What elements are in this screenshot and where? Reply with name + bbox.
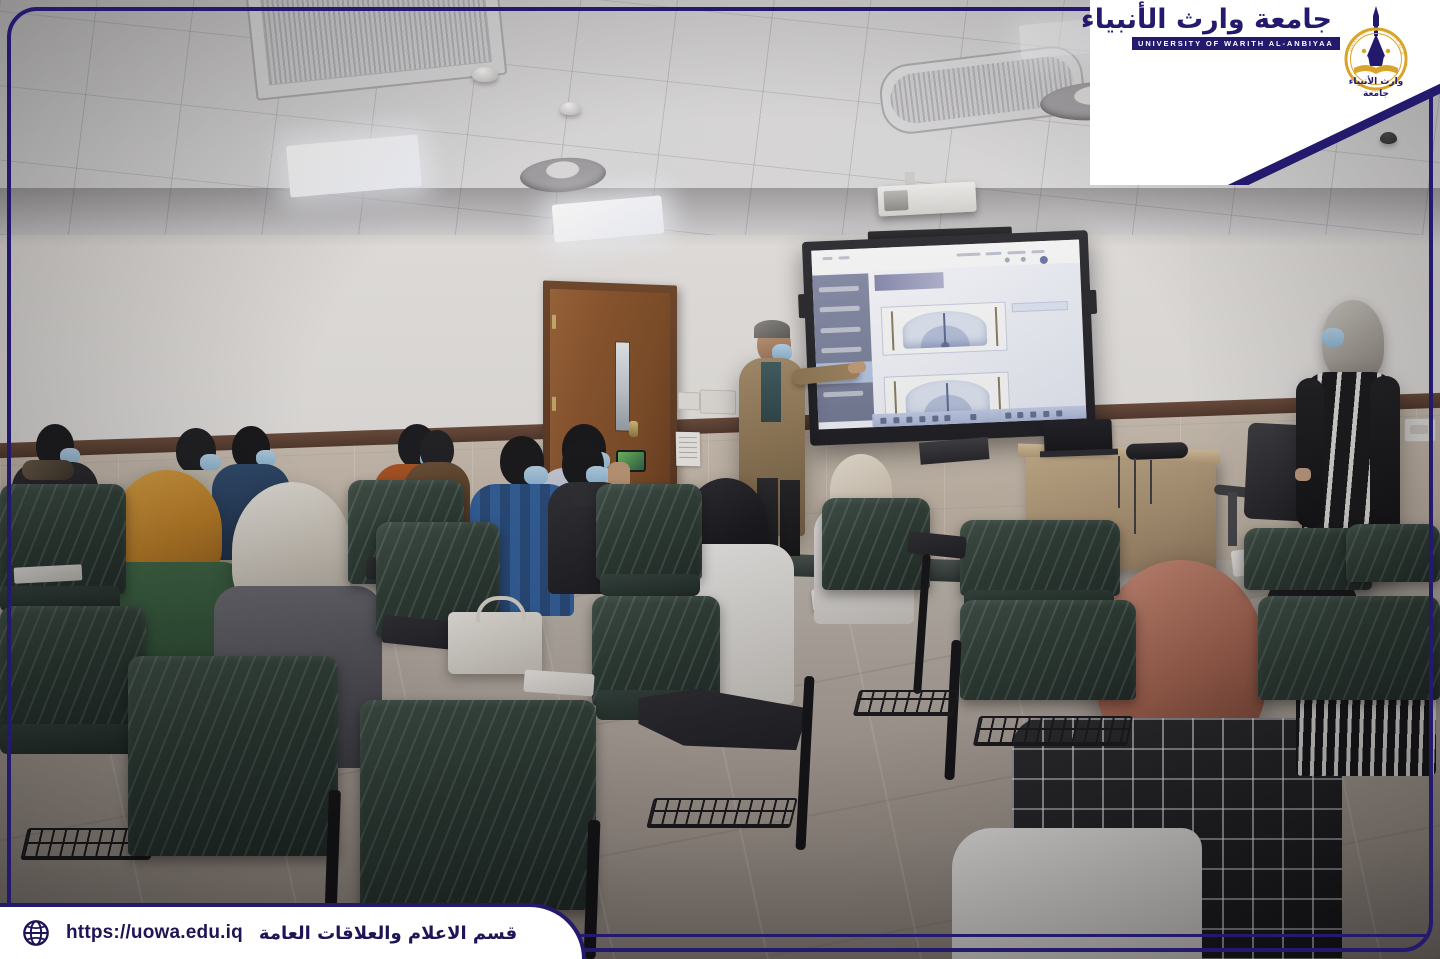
display-side-button bbox=[1087, 290, 1097, 314]
door-hinge-icon bbox=[552, 397, 556, 411]
lecture-hall-photo bbox=[0, 0, 1440, 959]
smoke-detector-icon bbox=[472, 67, 498, 82]
cable bbox=[1150, 460, 1196, 504]
security-camera-icon bbox=[1380, 132, 1397, 144]
wall-switch-plate bbox=[678, 392, 700, 411]
white-garment bbox=[952, 828, 1202, 959]
page-sidebar bbox=[812, 273, 874, 422]
page-logo bbox=[874, 272, 944, 291]
book-illustration bbox=[902, 309, 987, 349]
projector-icon bbox=[877, 181, 976, 216]
ceiling-shadow bbox=[0, 188, 1440, 246]
content-card bbox=[881, 302, 1008, 356]
display-screen bbox=[811, 239, 1086, 429]
door-vision-panel bbox=[615, 341, 630, 432]
door-handle-icon bbox=[629, 420, 638, 436]
laptop-icon bbox=[1043, 419, 1112, 453]
wall-notice-paper bbox=[676, 432, 701, 466]
instructor-leg bbox=[780, 480, 800, 556]
face-mask bbox=[524, 466, 548, 485]
fur-collar bbox=[22, 460, 74, 480]
door-hinge-icon bbox=[552, 315, 556, 329]
photo-card: جامعة وارث الأنبياء UNIVERSITY OF WARITH… bbox=[0, 0, 1440, 959]
instructor-hair bbox=[754, 320, 790, 338]
wall-switch-plate bbox=[700, 389, 736, 414]
smoke-detector-icon bbox=[560, 102, 581, 115]
assistant-hand bbox=[1295, 468, 1311, 481]
display-side-button bbox=[798, 294, 808, 318]
face-mask bbox=[200, 454, 221, 471]
browser-toolbar bbox=[811, 239, 1080, 273]
office-chair-post bbox=[1228, 492, 1237, 546]
interactive-display bbox=[802, 230, 1096, 446]
content-button bbox=[1012, 301, 1068, 312]
wall-socket-icon bbox=[1404, 418, 1436, 442]
face-mask bbox=[1322, 328, 1344, 347]
assistant-arm bbox=[1296, 378, 1324, 528]
instructor-shirt bbox=[761, 362, 781, 422]
assistant-arm bbox=[1370, 376, 1400, 536]
